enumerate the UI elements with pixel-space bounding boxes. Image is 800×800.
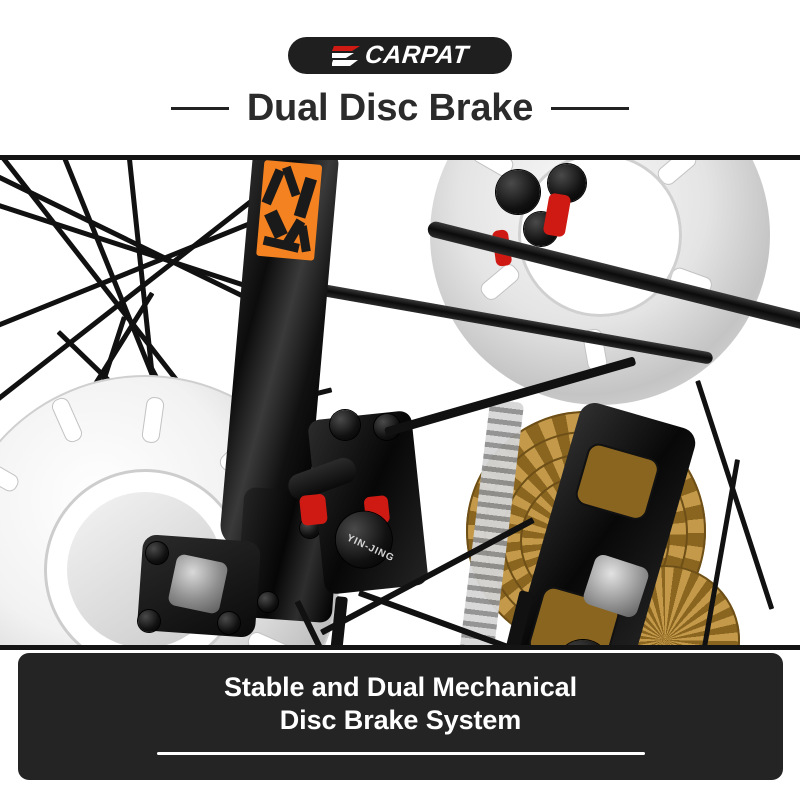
title-rule-left — [171, 107, 229, 110]
bicycle-dual-disc-brake-photo: YIN-JING INDEX M50 — [0, 155, 800, 650]
angular-e-chevron-icon — [332, 45, 362, 67]
fork-graphic-decal — [256, 160, 322, 261]
page-title: Dual Disc Brake — [247, 89, 533, 127]
brand-logo: CARPAT — [288, 37, 512, 74]
title-rule-right — [551, 107, 629, 110]
front-axle-nut — [167, 553, 229, 615]
product-feature-banner: CARPAT Dual Disc Brake — [0, 0, 800, 800]
caption-line-2: Disc Brake System — [280, 704, 521, 737]
brand-logo-text: CARPAT — [363, 43, 469, 68]
caption-line-1: Stable and Dual Mechanical — [224, 671, 577, 704]
caption-panel: Stable and Dual Mechanical Disc Brake Sy… — [18, 653, 783, 780]
caption-underline — [157, 752, 645, 755]
page-title-row: Dual Disc Brake — [0, 85, 800, 131]
front-brake-caliper: YIN-JING — [307, 410, 429, 595]
